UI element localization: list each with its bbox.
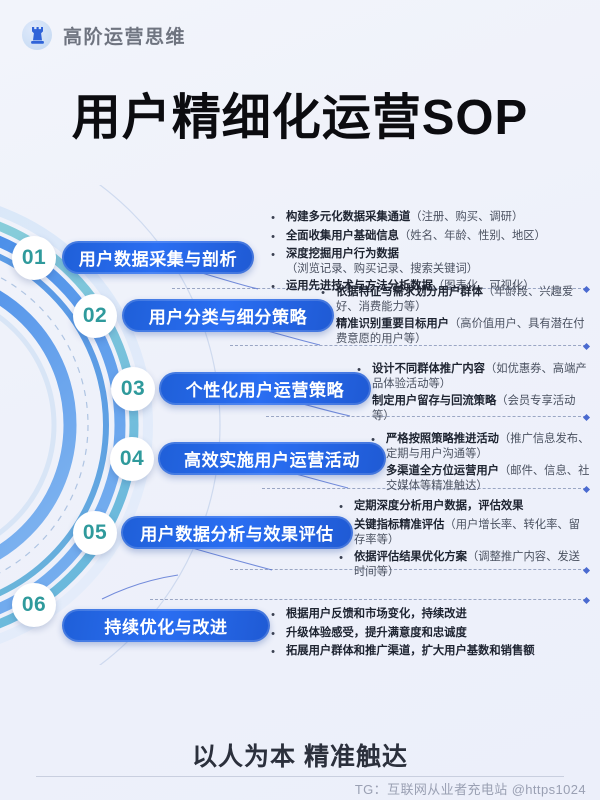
bullet-item: • 依据特征与需求划分用户群体（年龄段、兴趣爱好、消费能力等） (318, 285, 590, 315)
bullet-text: 多渠道全方位运营用户（邮件、信息、社交媒体等精准触达） (386, 464, 590, 494)
footer-divider (36, 776, 564, 777)
bullet-text: 升级体验感受，提升满意度和忠诚度 (286, 626, 467, 641)
bullet-dot: • (268, 210, 278, 227)
bullet-item: • 定期深度分析用户数据，评估效果 (336, 499, 590, 516)
bullet-text: 依据特征与需求划分用户群体（年龄段、兴趣爱好、消费能力等） (336, 285, 590, 315)
bullet-dot: • (268, 644, 278, 661)
step-number-badge: 04 (110, 437, 154, 481)
bullet-text: 根据用户反馈和市场变化，持续改进 (286, 607, 467, 622)
step-number-badge: 05 (73, 511, 117, 555)
bullet-text: 设计不同群体推广内容（如优惠券、高端产品体验活动等） (372, 362, 590, 392)
step-connector-curve (100, 573, 180, 601)
bullet-item: • 构建多元化数据采集通道（注册、购买、调研） (268, 210, 590, 227)
bullet-text: 制定用户留存与回流策略（会员专享活动等） (372, 394, 590, 424)
brand-name: 高阶运营思维 (63, 22, 186, 49)
bullet-text: 拓展用户群体和推广渠道，扩大用户基数和销售额 (286, 644, 535, 659)
step-label: 用户分类与细分策略 (149, 303, 307, 328)
bullet-item: • 升级体验感受，提升满意度和忠诚度 (268, 626, 590, 643)
bullet-dot: • (336, 499, 346, 516)
step-bullet-list: • 定期深度分析用户数据，评估效果 • 关键指标精准评估（用户增长率、转化率、留… (336, 499, 590, 582)
infographic-canvas: 高阶运营思维 用户精细化运营SOP 01 用户数据采集与剖析 • 构建多元化数据… (0, 0, 600, 800)
step-number-badge: 02 (73, 294, 117, 338)
step-number-badge: 06 (12, 583, 56, 627)
bullet-item: • 多渠道全方位运营用户（邮件、信息、社交媒体等精准触达） (368, 464, 590, 494)
step-number-badge: 03 (111, 367, 155, 411)
step-separator (150, 599, 586, 601)
bullet-dot: • (268, 279, 278, 296)
step-label-pill[interactable]: 用户数据分析与效果评估 (121, 516, 353, 549)
bullet-item: • 制定用户留存与回流策略（会员专享活动等） (354, 394, 590, 424)
bullet-text: 依据评估结果优化方案（调整推广内容、发送时间等） (354, 550, 590, 580)
bullet-text: 严格按照策略推进活动（推广信息发布、定期与用户沟通等） (386, 432, 590, 462)
bullet-text: 精准识别重要目标用户（高价值用户、具有潜在付费意愿的用户等） (336, 317, 590, 347)
bullet-text: 关键指标精准评估（用户增长率、转化率、留存率等） (354, 518, 590, 548)
bullet-text: 深度挖掘用户行为数据（浏览记录、购买记录、搜索关键词） (286, 247, 590, 277)
sop-step-06: 06 持续优化与改进 • 根据用户反馈和市场变化，持续改进 • 升级体验感受，提… (0, 573, 600, 647)
sop-step-01: 01 用户数据采集与剖析 • 构建多元化数据采集通道（注册、购买、调研） • 全… (0, 200, 600, 273)
step-number-badge: 01 (12, 236, 56, 280)
chess-rook-icon (22, 20, 52, 50)
bullet-dot: • (336, 550, 346, 567)
step-label: 持续优化与改进 (104, 613, 227, 638)
watermark-text: TG：互联网从业者充电站 @https1024 (355, 779, 586, 798)
bullet-dot: • (268, 229, 278, 246)
sop-step-03: 03 个性化用户运营策略 • 设计不同群体推广内容（如优惠券、高端产品体验活动等… (0, 350, 600, 422)
step-label-pill[interactable]: 个性化用户运营策略 (159, 372, 371, 405)
step-label-pill[interactable]: 用户分类与细分策略 (122, 299, 334, 332)
step-bullet-list: • 根据用户反馈和市场变化，持续改进 • 升级体验感受，提升满意度和忠诚度 • … (268, 607, 590, 663)
step-label: 用户数据采集与剖析 (79, 245, 237, 270)
step-bullet-list: • 严格按照策略推进活动（推广信息发布、定期与用户沟通等） • 多渠道全方位运营… (368, 432, 590, 496)
bullet-item: • 拓展用户群体和推广渠道，扩大用户基数和销售额 (268, 644, 590, 661)
bullet-item: • 深度挖掘用户行为数据（浏览记录、购买记录、搜索关键词） (268, 247, 590, 277)
step-label-pill[interactable]: 持续优化与改进 (62, 609, 270, 642)
sop-step-list: 01 用户数据采集与剖析 • 构建多元化数据采集通道（注册、购买、调研） • 全… (0, 200, 600, 647)
brand-header: 高阶运营思维 (22, 20, 186, 50)
step-bullet-list: • 依据特征与需求划分用户群体（年龄段、兴趣爱好、消费能力等） • 精准识别重要… (318, 285, 590, 349)
step-label: 用户数据分析与效果评估 (140, 520, 334, 545)
page-title: 用户精细化运营SOP (0, 78, 600, 149)
bullet-text: 定期深度分析用户数据，评估效果 (354, 499, 523, 514)
bullet-item: • 依据评估结果优化方案（调整推广内容、发送时间等） (336, 550, 590, 580)
sop-step-04: 04 高效实施用户运营活动 • 严格按照策略推进活动（推广信息发布、定期与用户沟… (0, 422, 600, 493)
step-bullet-list: • 设计不同群体推广内容（如优惠券、高端产品体验活动等） • 制定用户留存与回流… (354, 362, 590, 426)
bullet-text: 全面收集用户基础信息（姓名、年龄、性别、地区） (286, 229, 546, 244)
bullet-item: • 设计不同群体推广内容（如优惠券、高端产品体验活动等） (354, 362, 590, 392)
step-label-pill[interactable]: 高效实施用户运营活动 (158, 442, 386, 475)
bullet-text: 构建多元化数据采集通道（注册、购买、调研） (286, 210, 523, 225)
step-label: 个性化用户运营策略 (186, 376, 344, 401)
step-label-pill[interactable]: 用户数据采集与剖析 (62, 241, 254, 274)
bullet-item: • 全面收集用户基础信息（姓名、年龄、性别、地区） (268, 229, 590, 246)
footer-slogan: 以人为本 精准触达 (0, 737, 600, 773)
bullet-item: • 精准识别重要目标用户（高价值用户、具有潜在付费意愿的用户等） (318, 317, 590, 347)
step-label: 高效实施用户运营活动 (184, 446, 360, 471)
bullet-item: • 根据用户反馈和市场变化，持续改进 (268, 607, 590, 624)
bullet-item: • 关键指标精准评估（用户增长率、转化率、留存率等） (336, 518, 590, 548)
bullet-dot: • (268, 247, 278, 264)
bullet-item: • 严格按照策略推进活动（推广信息发布、定期与用户沟通等） (368, 432, 590, 462)
sop-step-05: 05 用户数据分析与效果评估 • 定期深度分析用户数据，评估效果 • 关键指标精… (0, 493, 600, 573)
